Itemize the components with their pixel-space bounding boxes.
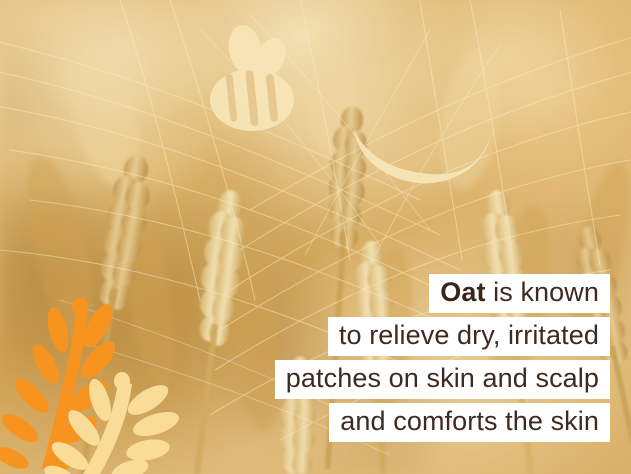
lead-word-oat: Oat	[440, 277, 485, 307]
bee-icon	[206, 24, 302, 136]
message-line-1: Oat is known	[429, 274, 610, 313]
wheat-frond-cream-icon	[56, 378, 186, 474]
flight-path-arc-icon	[352, 128, 494, 186]
message-line-2: to relieve dry, irritated	[328, 317, 610, 356]
message-line-1-rest: is known	[486, 277, 599, 307]
message-line-3: patches on skin and scalp	[275, 360, 610, 399]
oat-benefit-banner: Oat is known to relieve dry, irritated p…	[0, 0, 631, 474]
message-line-4: and comforts the skin	[329, 403, 610, 442]
message-block: Oat is known to relieve dry, irritated p…	[275, 274, 610, 442]
